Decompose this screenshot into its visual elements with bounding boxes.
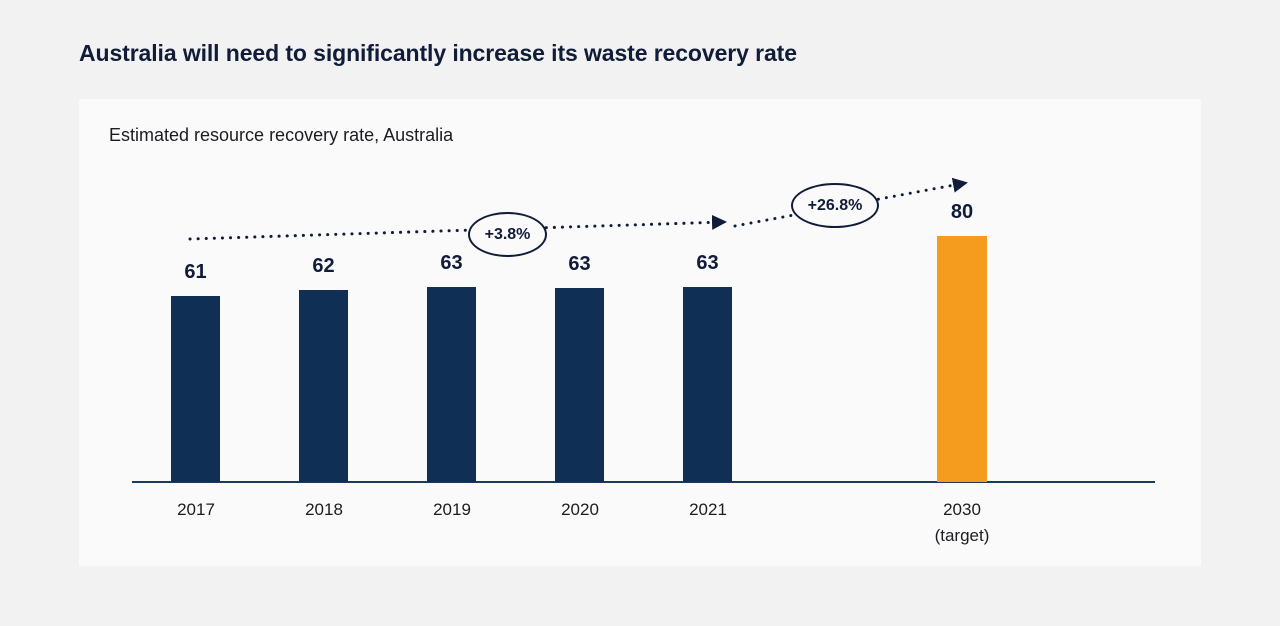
x-axis-label-2019: 2019 <box>412 497 492 523</box>
x-axis-label-2019-text: 2019 <box>433 500 471 519</box>
page-title: Australia will need to significantly inc… <box>79 40 797 67</box>
bar-value-2018: 62 <box>299 255 348 278</box>
chart-plot-area: 61 2017 62 2018 63 2019 63 2020 63 2021 … <box>79 99 1201 566</box>
bar-value-2020: 63 <box>555 253 604 276</box>
bar-2019[interactable] <box>427 287 476 482</box>
bar-2017[interactable] <box>171 296 220 482</box>
bar-2030-target[interactable] <box>937 236 987 482</box>
annotation-growth-2021-2030-label: +26.8% <box>808 197 863 215</box>
annotation-growth-2017-2021-label: +3.8% <box>485 226 531 244</box>
bar-2020[interactable] <box>555 288 604 482</box>
x-axis-label-2020-text: 2020 <box>561 500 599 519</box>
growth-arrow-1 <box>190 222 724 239</box>
bar-2021[interactable] <box>683 287 732 482</box>
x-axis-label-2030-sublabel: (target) <box>922 523 1002 549</box>
x-axis-label-2020: 2020 <box>540 497 620 523</box>
bar-value-2019: 63 <box>427 252 476 275</box>
bar-value-2021: 63 <box>683 252 732 275</box>
x-axis-label-2018: 2018 <box>284 497 364 523</box>
chart-vector-layer <box>79 99 1201 566</box>
chart-card: Estimated resource recovery rate, Austra… <box>79 99 1201 566</box>
annotation-growth-2017-2021[interactable]: +3.8% <box>468 212 547 257</box>
x-axis-label-2030-text: 2030 <box>943 500 981 519</box>
x-axis-label-2017: 2017 <box>156 497 236 523</box>
x-axis-label-2030-target: 2030 (target) <box>922 497 1002 548</box>
x-axis-label-2017-text: 2017 <box>177 500 215 519</box>
bar-value-2017: 61 <box>171 261 220 284</box>
bar-2018[interactable] <box>299 290 348 482</box>
x-axis-label-2018-text: 2018 <box>305 500 343 519</box>
bar-value-2030-target: 80 <box>937 201 987 224</box>
x-axis-label-2021-text: 2021 <box>689 500 727 519</box>
x-axis-label-2021: 2021 <box>668 497 748 523</box>
annotation-growth-2021-2030[interactable]: +26.8% <box>791 183 879 228</box>
